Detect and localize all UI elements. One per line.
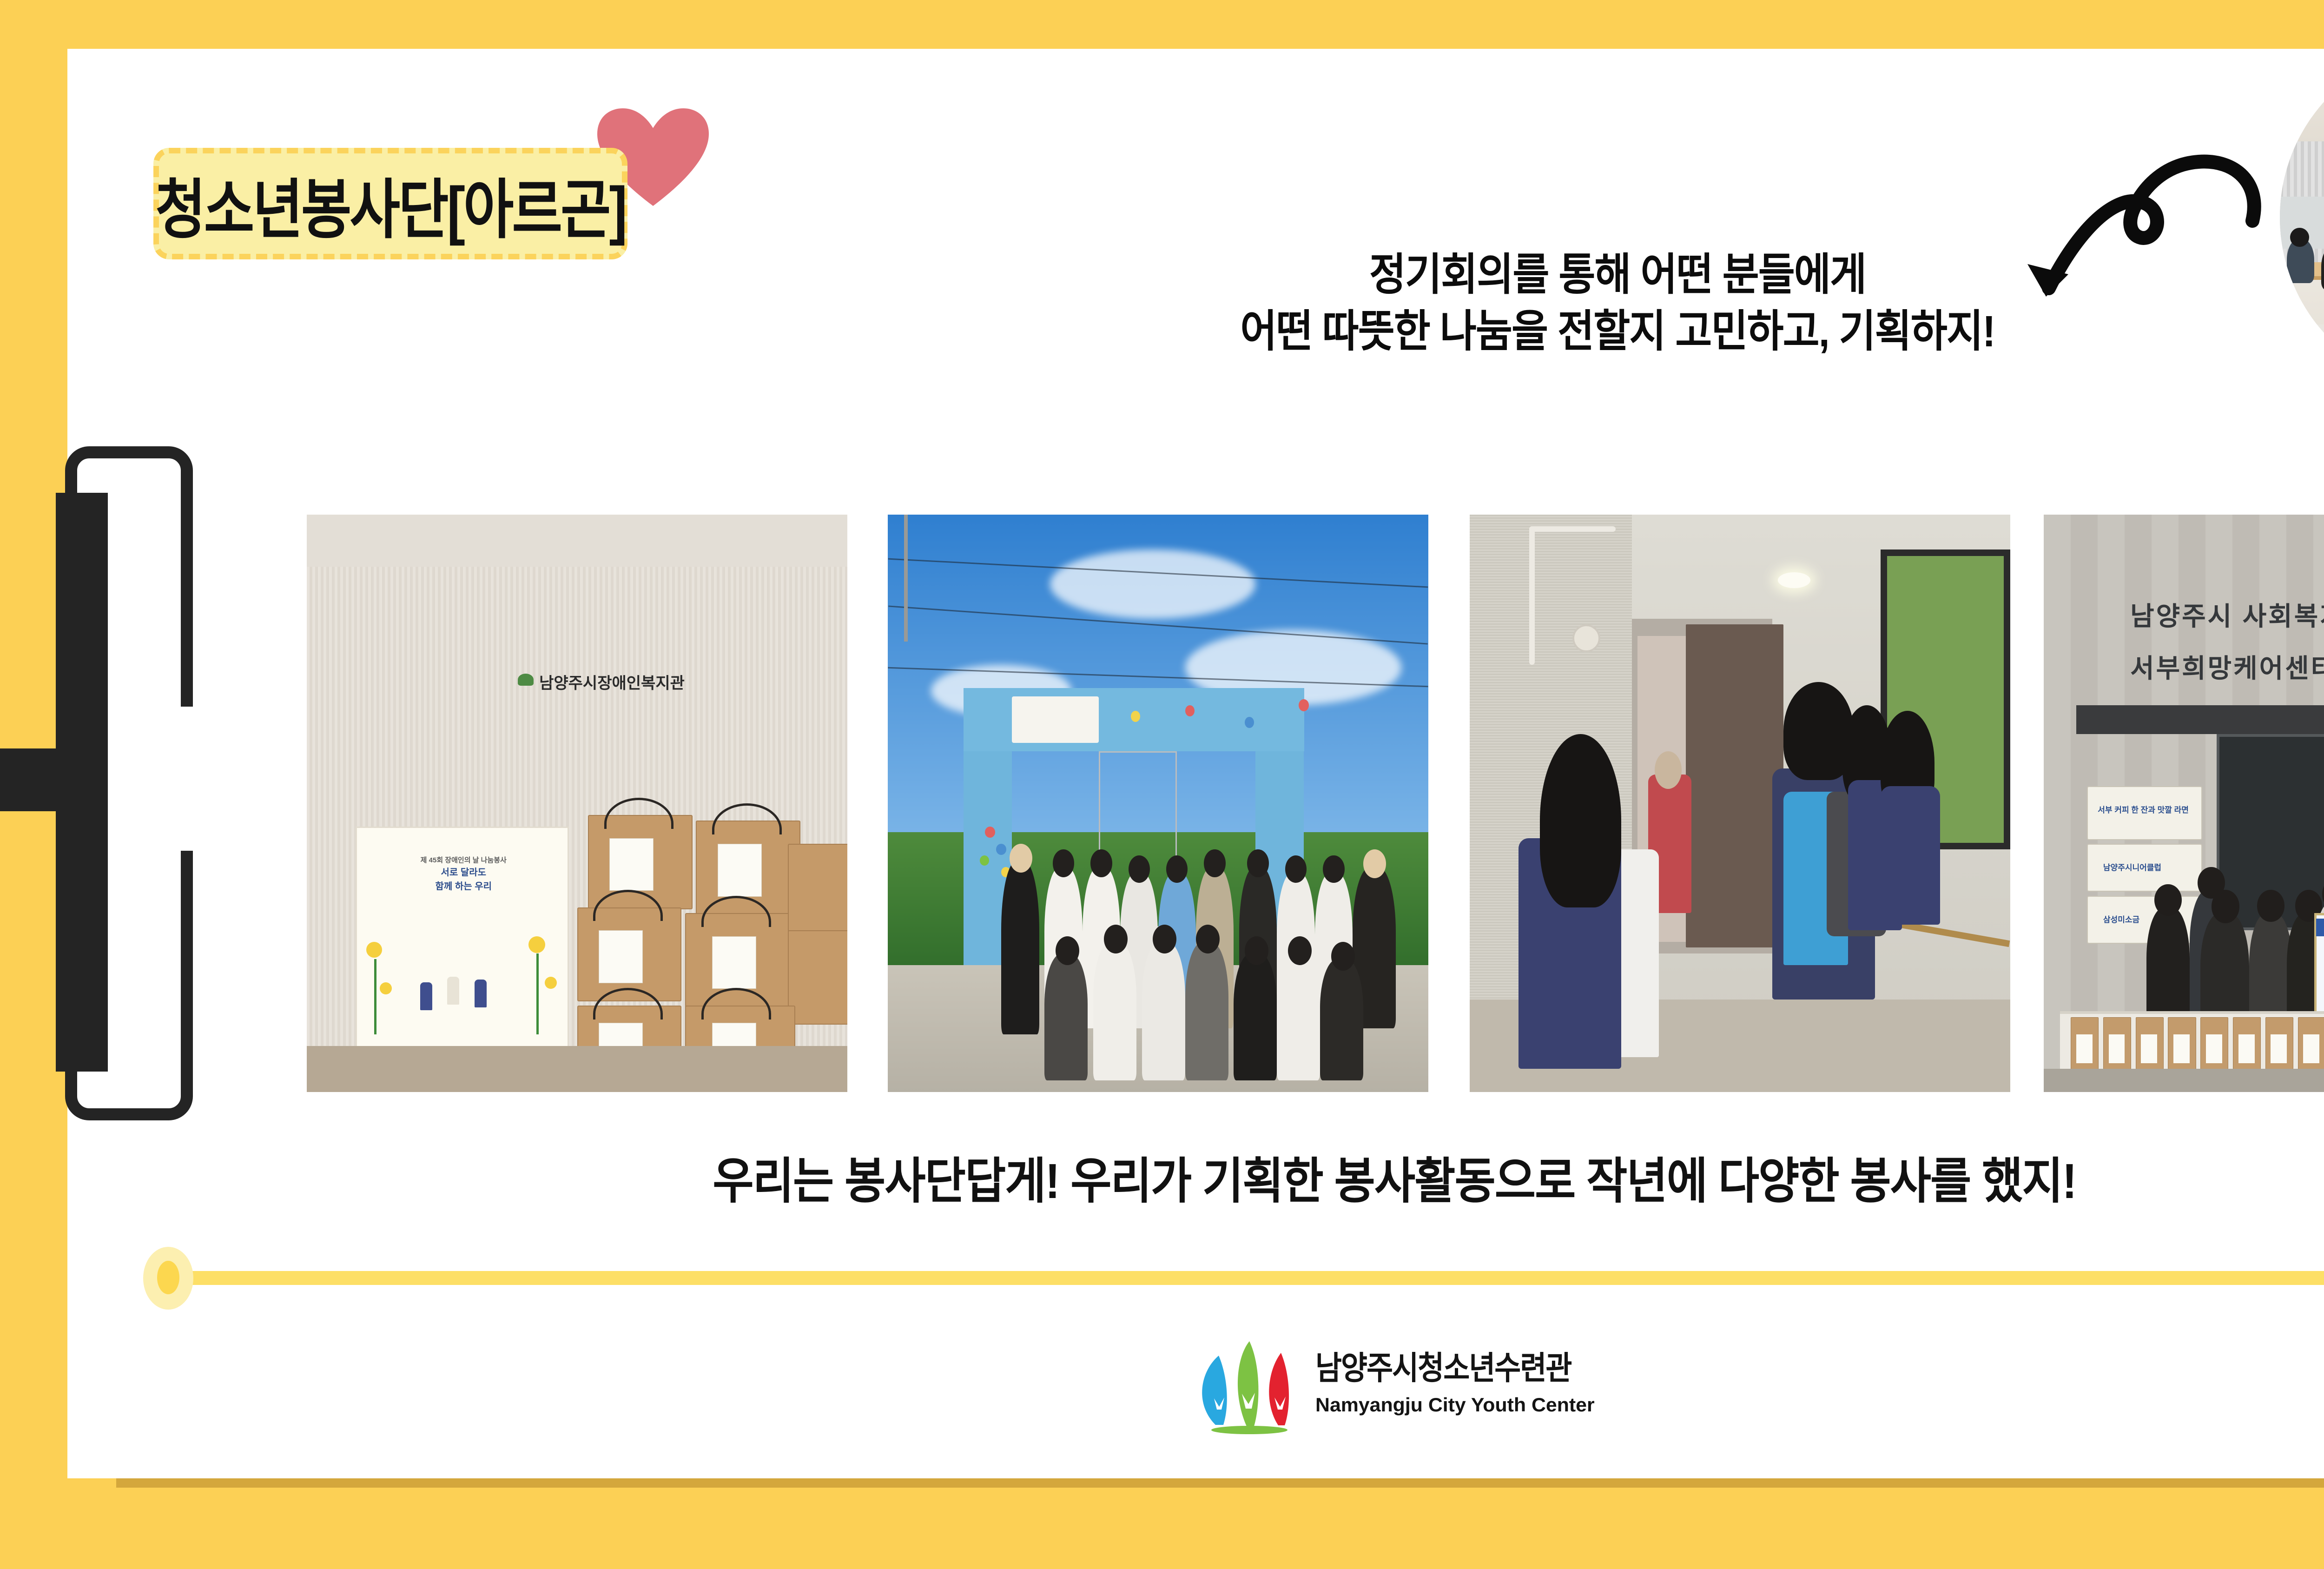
photo4-plate-3: 삼성미소금: [2103, 913, 2139, 925]
photo-care-center: 남양주시 사회복지관 서부희망케어센터 서부 커피 한 잔과 맛깔 라면 남양주…: [2044, 515, 2324, 1092]
intro-line-1: 정기회의를 통해 어떤 분들에게: [1139, 244, 2096, 306]
title-badge-label: 청소년봉사단[아르곤]: [159, 145, 622, 263]
photo1-sign-text: 남양주시장애인복지관: [539, 670, 685, 693]
intro-text-block: 정기회의를 통해 어떤 분들에게 어떤 따뜻한 나눔을 전할지 고민하고, 기획…: [1139, 246, 2096, 360]
namyangju-youth-center-logo-icon: [1190, 1339, 1306, 1434]
photo4-sign-line2: 서부희망케어센터: [2130, 648, 2324, 685]
photo4-plate-2: 남양주시니어클럽: [2103, 861, 2161, 873]
curly-arrow-icon: [1994, 139, 2319, 325]
logo-name-kr: 남양주시청소년수련관: [1315, 1342, 1589, 1389]
photo4-sign-line1: 남양주시 사회복지관: [2130, 596, 2324, 633]
photo1-poster-line1: 제 45회 장애인의 날 나눔봉사: [383, 855, 545, 866]
photo4-plate-1: 서부 커피 한 잔과 맛깔 라면: [2098, 803, 2189, 815]
footer-logo: 남양주시청소년수련관 Namyangju City Youth Center: [1190, 1339, 1608, 1437]
photo1-poster-line3: 함께 하는 우리: [383, 880, 545, 894]
photo-gallery: 남양주시장애인복지관 제 45회 장애인의 날 나눔봉사 서로 달라도 함께 하…: [307, 515, 2324, 1092]
slide-canvas: 청소년봉사단[아르곤] 정기회의를 통해 어떤 분들에게 어떤 따뜻한 나눔을 …: [0, 0, 2324, 1569]
gallery-caption: 우리는 봉사단답게! 우리가 기획한 봉사활동으로 작년에 다양한 봉사를 했지…: [0, 1141, 2324, 1212]
title-badge: 청소년봉사단[아르곤]: [153, 148, 627, 259]
photo-welfare-boxes: 남양주시장애인복지관 제 45회 장애인의 날 나눔봉사 서로 달라도 함께 하…: [307, 515, 847, 1092]
photo-arch-group: [888, 515, 1428, 1092]
divider-line: [167, 1271, 2324, 1285]
logo-name-en: Namyangju City Youth Center: [1315, 1394, 1595, 1416]
photo-home-visit: [1470, 515, 2010, 1092]
divider-dot: [157, 1261, 179, 1294]
photo1-poster-line2: 서로 달라도: [383, 866, 545, 880]
intro-line-2: 어떤 따뜻한 나눔을 전할지 고민하고, 기획하지!: [1139, 300, 2096, 363]
bookmark-tab-notch: [156, 707, 207, 851]
